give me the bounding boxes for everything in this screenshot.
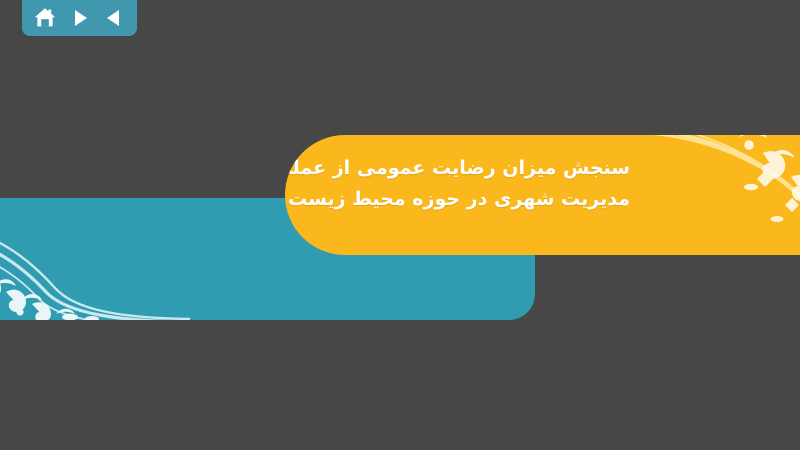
slide-title: سنجش میزان رضایت عمومی از عملکرد مدیریت …	[310, 153, 630, 215]
forward-icon	[69, 7, 91, 29]
back-button[interactable]	[101, 5, 127, 31]
teal-arabesque-ornament-icon	[0, 200, 190, 320]
home-icon	[33, 6, 57, 30]
home-button[interactable]	[32, 5, 58, 31]
navigation-bar	[22, 0, 137, 36]
slide-title-line-1: سنجش میزان رضایت عمومی از عملکرد	[310, 153, 630, 184]
slide-title-line-2: مدیریت شهری در حوزه محیط زیست پایدار	[310, 184, 630, 215]
slide-canvas: سنجش میزان رضایت عمومی از عملکرد مدیریت …	[0, 0, 800, 450]
title-banner: سنجش میزان رضایت عمومی از عملکرد مدیریت …	[285, 135, 800, 255]
forward-button[interactable]	[67, 5, 93, 31]
banner-arabesque-ornament-icon	[645, 135, 800, 255]
back-icon	[103, 7, 125, 29]
